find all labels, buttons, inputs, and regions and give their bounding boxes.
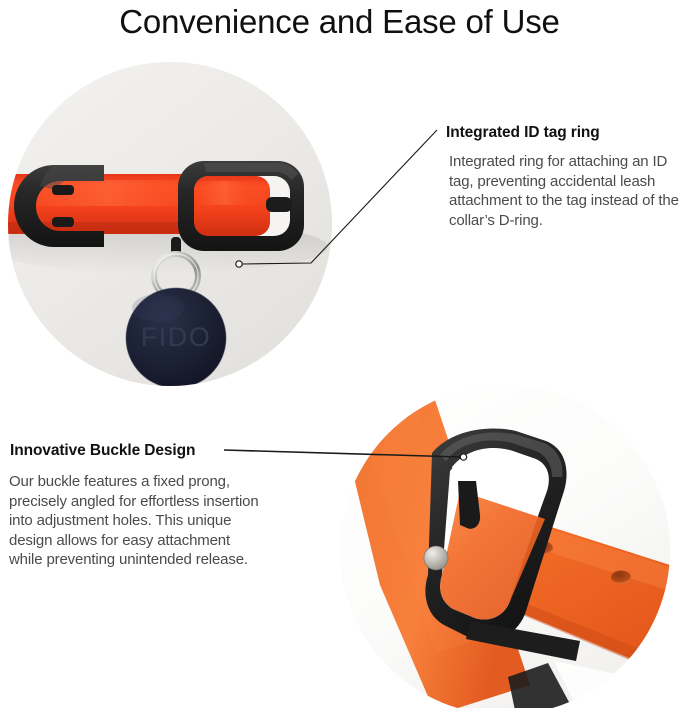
- integrated-id-tag-ring-hardware: [178, 161, 304, 251]
- callout-body-innovative-buckle-design: Our buckle features a fixed prong, preci…: [9, 472, 259, 570]
- callout-heading-innovative-buckle-design: Innovative Buckle Design: [10, 442, 195, 460]
- callout-body-integrated-id-tag-ring: Integrated ring for attaching an ID tag,…: [449, 152, 679, 230]
- photo-collar-id-tag-ring: FIDO: [8, 62, 332, 386]
- page-title: Convenience and Ease of Use: [0, 0, 679, 44]
- infographic-page: Convenience and Ease of Use: [0, 0, 679, 708]
- fido-tag-text: FIDO: [141, 322, 212, 352]
- photo-buckle-design: [340, 385, 670, 708]
- callout-heading-integrated-id-tag-ring: Integrated ID tag ring: [446, 124, 600, 142]
- fixed-prong: [266, 197, 292, 212]
- adjustment-hole: [611, 571, 631, 584]
- fixed-prong: [458, 481, 480, 529]
